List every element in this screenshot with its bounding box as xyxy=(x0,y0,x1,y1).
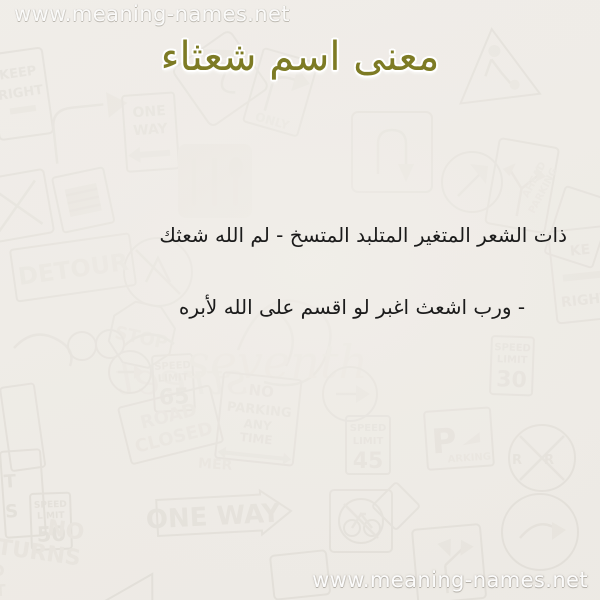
svg-text:WAY: WAY xyxy=(133,121,169,139)
name-meaning-card: .so { fill:none; stroke:#d9d5ce; stroke-… xyxy=(0,0,600,600)
svg-text:NO: NO xyxy=(46,516,86,546)
svg-text:SPEED: SPEED xyxy=(350,423,387,434)
svg-text:T: T xyxy=(3,471,17,493)
svg-text:ONE: ONE xyxy=(132,103,166,121)
svg-text:LIMIT: LIMIT xyxy=(158,372,189,385)
svg-text:KE: KE xyxy=(569,242,591,260)
svg-text:R: R xyxy=(512,453,522,468)
watermark-top: www.meaning-names.net xyxy=(14,2,290,26)
svg-text:SPEED: SPEED xyxy=(34,500,67,511)
svg-text:LIMIT: LIMIT xyxy=(353,436,384,447)
svg-text:LIMIT: LIMIT xyxy=(497,354,528,366)
page-title: معنى اسم شعثاء xyxy=(0,35,600,79)
meaning-line-1: ذات الشعر المتغير المتلبد المتسخ - لم ال… xyxy=(33,220,567,250)
svg-text:R: R xyxy=(544,453,554,468)
svg-text:MER: MER xyxy=(198,456,234,474)
name-meaning-text-block: ذات الشعر المتغير المتلبد المتسخ - لم ال… xyxy=(33,220,567,322)
svg-text:SPEED: SPEED xyxy=(494,342,531,354)
svg-text:MIT: MIT xyxy=(0,581,6,600)
watermark-bottom: www.meaning-names.net xyxy=(312,568,588,592)
svg-text:S: S xyxy=(5,501,19,523)
meaning-line-2: - ورب اشعث اغبر لو اقسم على الله لأبره xyxy=(33,292,567,322)
svg-text:30: 30 xyxy=(496,367,527,393)
svg-text:NO: NO xyxy=(248,381,275,402)
svg-text:45: 45 xyxy=(353,449,384,474)
svg-text:seventh: seventh xyxy=(186,335,368,389)
